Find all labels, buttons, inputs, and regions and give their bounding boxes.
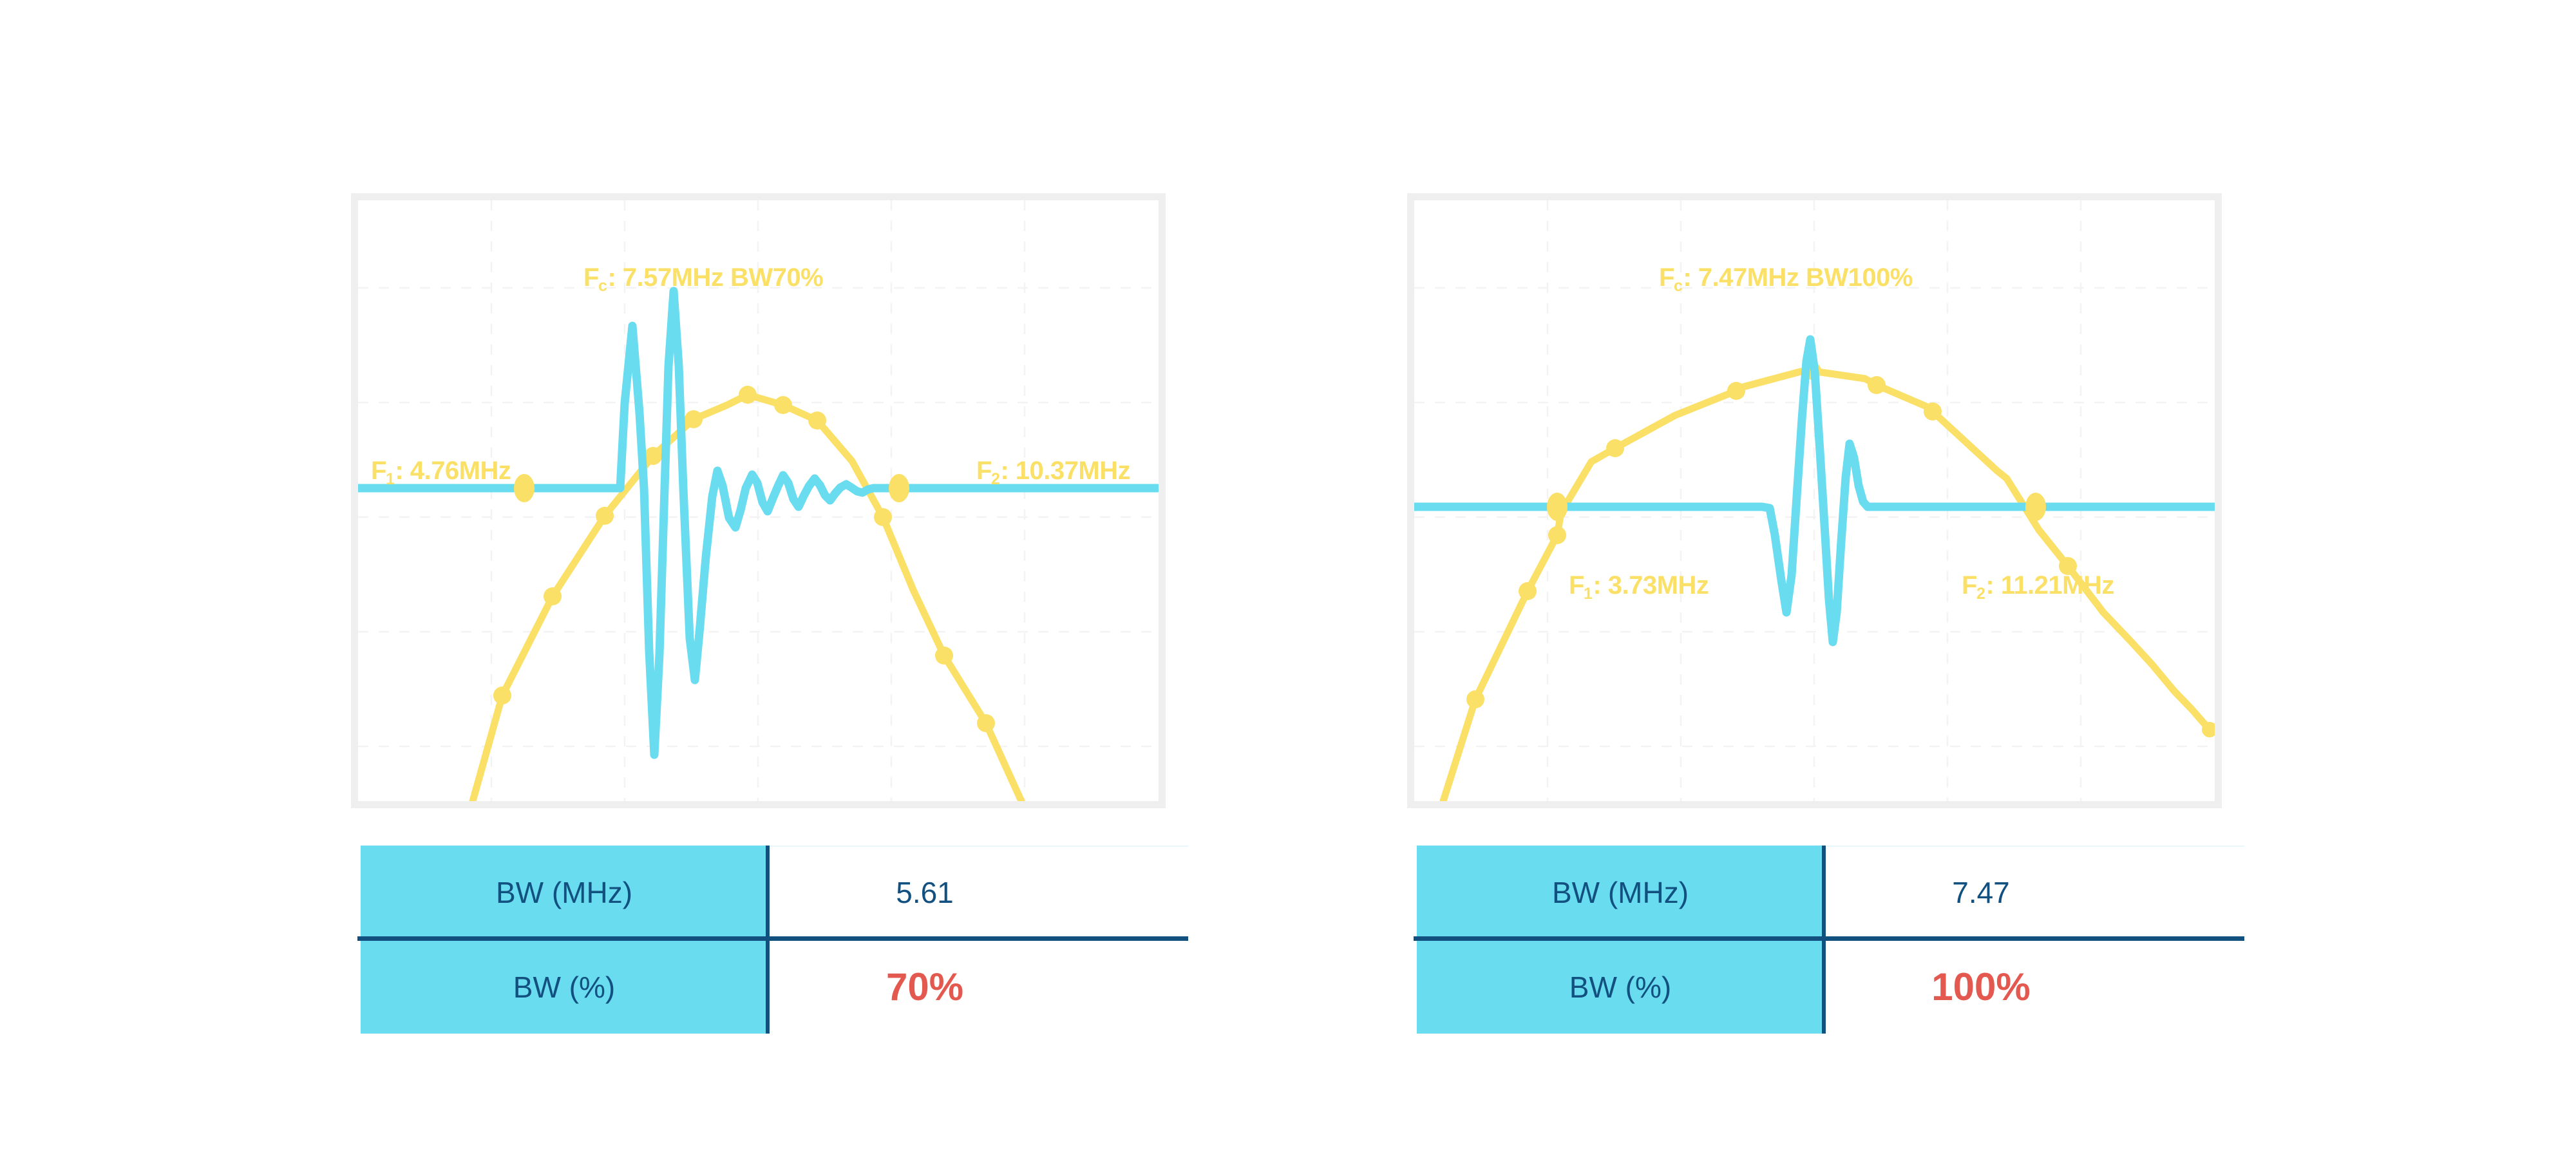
table-row-divider xyxy=(357,936,1188,941)
table-row: BW (MHz) 5.61 xyxy=(361,846,1198,939)
annotation-subscript: 1 xyxy=(386,470,394,488)
annotation-symbol: F xyxy=(1569,571,1584,600)
annotation-text: : 7.47MHz BW100% xyxy=(1683,263,1913,292)
row-value-cell: 70% xyxy=(768,940,1198,1034)
table-column-divider xyxy=(1822,846,1826,1034)
row-value: 100% xyxy=(1931,965,2030,1009)
table-top-rule xyxy=(768,846,1188,847)
spectrum-markers xyxy=(493,386,995,732)
annotation-text: : 10.37MHz xyxy=(1000,457,1130,485)
annotation-text: : 4.76MHz xyxy=(395,457,511,485)
row-value: 5.61 xyxy=(896,875,954,910)
table-top-rule xyxy=(1824,846,2244,847)
table-column-divider xyxy=(766,846,770,1034)
annotation-subscript: 2 xyxy=(991,470,999,488)
annotation-subscript: c xyxy=(1674,277,1682,295)
annotation-symbol: F xyxy=(371,457,386,485)
table-row: BW (MHz) 7.47 xyxy=(1417,846,2254,939)
annotation-subscript: 2 xyxy=(1976,585,1985,603)
table-row: BW (%) 100% xyxy=(1417,940,2254,1034)
annotation-symbol: F xyxy=(976,457,992,485)
annotation-upper-frequency: F2: 10.37MHz xyxy=(976,458,1130,484)
table-row-divider xyxy=(1414,936,2244,941)
chart-frame-bw70: Fc: 7.57MHz BW70% F1: 4.76MHz F2: 10.37M… xyxy=(351,193,1166,808)
panel-bw70: Fc: 7.57MHz BW70% F1: 4.76MHz F2: 10.37M… xyxy=(351,193,1166,808)
row-label: BW (MHz) xyxy=(1417,846,1824,939)
row-value-cell: 7.47 xyxy=(1824,846,2254,939)
row-value-cell: 5.61 xyxy=(768,846,1198,939)
figure-root: Fc: 7.57MHz BW70% F1: 4.76MHz F2: 10.37M… xyxy=(0,0,2576,1154)
results-table-bw100: BW (MHz) 7.47 BW (%) 100% xyxy=(1417,846,2254,1052)
annotation-symbol: F xyxy=(1659,263,1674,292)
row-label: BW (%) xyxy=(1417,940,1824,1034)
annotation-text: : 11.21MHz xyxy=(1985,571,2114,600)
annotation-upper-frequency: F2: 11.21MHz xyxy=(1962,572,2114,598)
annotation-subscript: 1 xyxy=(1584,585,1592,603)
row-value-cell: 100% xyxy=(1824,940,2254,1034)
annotation-symbol: F xyxy=(1962,571,1977,600)
annotation-subscript: c xyxy=(598,277,607,295)
annotation-symbol: F xyxy=(583,263,599,292)
annotation-lower-frequency: F1: 4.76MHz xyxy=(371,458,511,484)
annotation-text: : 7.57MHz BW70% xyxy=(607,263,823,292)
row-label: BW (%) xyxy=(361,940,768,1034)
annotation-lower-frequency: F1: 3.73MHz xyxy=(1569,572,1709,598)
panel-bw100: Fc: 7.47MHz BW100% F1: 3.73MHz F2: 11.21… xyxy=(1407,193,2222,808)
results-table-bw70: BW (MHz) 5.61 BW (%) 70% xyxy=(361,846,1198,1052)
row-value: 70% xyxy=(886,965,963,1009)
row-label: BW (MHz) xyxy=(361,846,768,939)
annotation-center-frequency: Fc: 7.47MHz BW100% xyxy=(1659,265,1913,290)
annotation-text: : 3.73MHz xyxy=(1593,571,1709,600)
chart-frame-bw100: Fc: 7.47MHz BW100% F1: 3.73MHz F2: 11.21… xyxy=(1407,193,2222,808)
annotation-center-frequency: Fc: 7.57MHz BW70% xyxy=(583,265,823,290)
row-value: 7.47 xyxy=(1952,875,2010,910)
table-row: BW (%) 70% xyxy=(361,940,1198,1034)
pulse-echo-waveform xyxy=(358,291,1159,755)
